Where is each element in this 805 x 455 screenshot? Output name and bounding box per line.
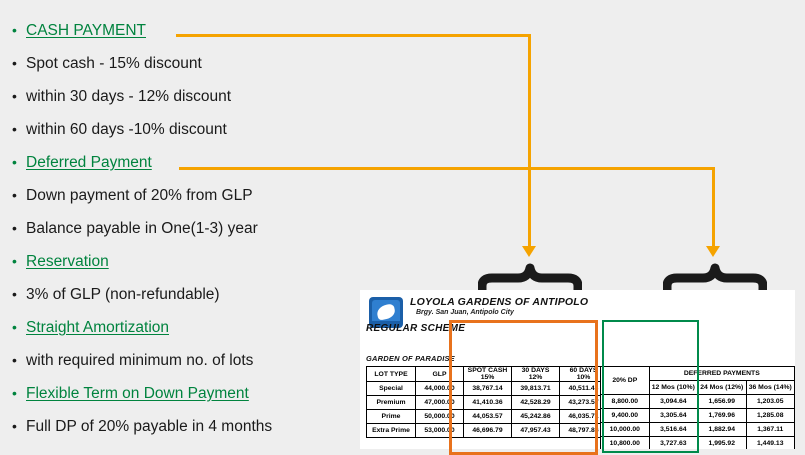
- slide-canvas: • CASH PAYMENT • Spot cash - 15% discoun…: [0, 0, 805, 449]
- cell-lot-type: Prime: [367, 410, 416, 424]
- bullet-dot-icon: •: [12, 122, 26, 136]
- list-item: • Spot cash - 15% discount: [12, 55, 362, 88]
- cell-24-mos: 1,882.94: [698, 423, 746, 437]
- column-header-lot-type: LOT TYPE: [367, 367, 416, 382]
- list-item: • 3% of GLP (non-refundable): [12, 286, 362, 319]
- cell-36-mos: 1,203.05: [746, 395, 795, 409]
- list-item-label: Full DP of 20% payable in 4 months: [26, 418, 272, 436]
- cell-24-mos: 1,769.96: [698, 409, 746, 423]
- cash-columns-highlight-box: [449, 320, 598, 455]
- cell-lot-type: Extra Prime: [367, 424, 416, 438]
- list-item-label: Spot cash - 15% discount: [26, 55, 202, 73]
- cell-lot-type: Special: [367, 382, 416, 396]
- list-item: • Balance payable in One(1-3) year: [12, 220, 362, 253]
- list-item-label: within 30 days - 12% discount: [26, 88, 231, 106]
- list-item-label: within 60 days -10% discount: [26, 121, 227, 139]
- cash-connector-arrow-icon: [522, 246, 536, 257]
- cash-connector-horizontal: [176, 34, 531, 37]
- list-item: • with required minimum no. of lots: [12, 352, 362, 385]
- bullet-dot-icon: •: [12, 320, 26, 334]
- column-header-24-mos: 24 Mos (12%): [698, 381, 746, 395]
- list-item: • within 30 days - 12% discount: [12, 88, 362, 121]
- list-item-label: Straight Amortization: [26, 319, 169, 337]
- list-item-heading: • Flexible Term on Down Payment: [12, 385, 362, 418]
- list-item-label: CASH PAYMENT: [26, 22, 146, 40]
- list-item-label: 3% of GLP (non-refundable): [26, 286, 220, 304]
- bullet-dot-icon: •: [12, 23, 26, 37]
- list-item-label: Flexible Term on Down Payment: [26, 385, 249, 403]
- column-header-36-mos: 36 Mos (14%): [746, 381, 795, 395]
- bullet-dot-icon: •: [12, 155, 26, 169]
- company-address: Brgy. San Juan, Antipolo City: [416, 309, 514, 316]
- list-item: • Down payment of 20% from GLP: [12, 187, 362, 220]
- bullet-dot-icon: •: [12, 419, 26, 433]
- cell-36-mos: 1,449.13: [746, 437, 795, 450]
- bullet-dot-icon: •: [12, 89, 26, 103]
- list-item-heading: • Straight Amortization: [12, 319, 362, 352]
- list-item-label: Reservation: [26, 253, 109, 271]
- bullet-dot-icon: •: [12, 56, 26, 70]
- bullet-dot-icon: •: [12, 287, 26, 301]
- cell-24-mos: 1,995.92: [698, 437, 746, 450]
- list-item-label: Deferred Payment: [26, 154, 152, 172]
- bullet-dot-icon: •: [12, 386, 26, 400]
- cell-36-mos: 1,367.11: [746, 423, 795, 437]
- cash-connector-vertical: [528, 34, 531, 248]
- payment-terms-list: • CASH PAYMENT • Spot cash - 15% discoun…: [12, 22, 362, 451]
- deferred-dp-highlight-box: [602, 320, 699, 453]
- list-item-heading: • CASH PAYMENT: [12, 22, 362, 55]
- cell-lot-type: Premium: [367, 396, 416, 410]
- cell-24-mos: 1,656.99: [698, 395, 746, 409]
- bullet-dot-icon: •: [12, 188, 26, 202]
- list-item-heading: • Deferred Payment: [12, 154, 362, 187]
- list-item-label: Balance payable in One(1-3) year: [26, 220, 258, 238]
- bullet-dot-icon: •: [12, 353, 26, 367]
- bullet-dot-icon: •: [12, 221, 26, 235]
- deferred-connector-arrow-icon: [706, 246, 720, 257]
- list-item-label: with required minimum no. of lots: [26, 352, 253, 370]
- phase-title: GARDEN OF PARADISE: [366, 354, 455, 363]
- company-name: LOYOLA GARDENS OF ANTIPOLO: [410, 296, 588, 308]
- deferred-connector-vertical: [712, 167, 715, 248]
- list-item: • within 60 days -10% discount: [12, 121, 362, 154]
- bullet-dot-icon: •: [12, 254, 26, 268]
- cell-36-mos: 1,285.08: [746, 409, 795, 423]
- deferred-connector-horizontal: [179, 167, 715, 170]
- list-item-label: Down payment of 20% from GLP: [26, 187, 253, 205]
- list-item: • Full DP of 20% payable in 4 months: [12, 418, 362, 451]
- list-item-heading: • Reservation: [12, 253, 362, 286]
